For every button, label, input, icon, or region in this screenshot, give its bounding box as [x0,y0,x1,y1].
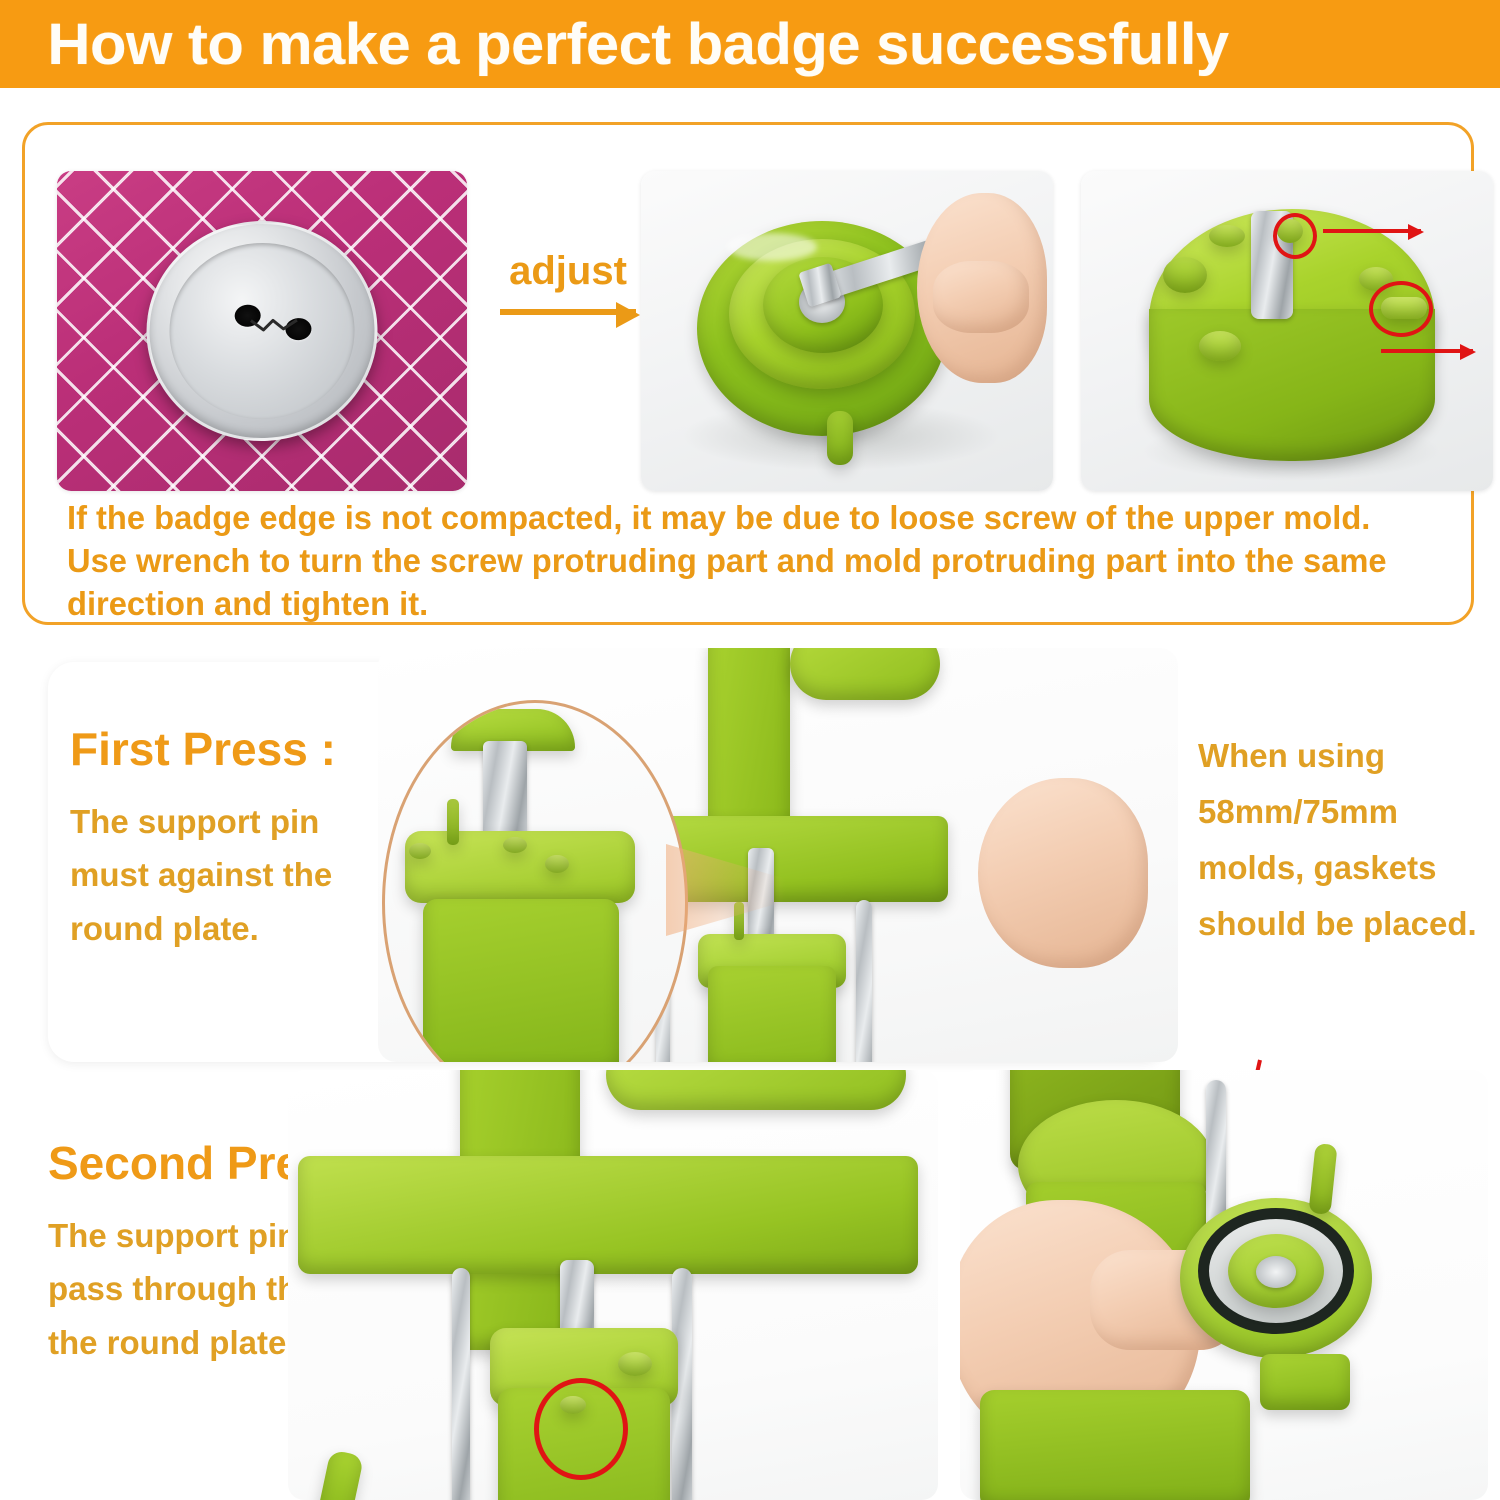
mold-alignment-annotated [1081,171,1493,491]
inset-support-pin [447,799,459,845]
center-screw [1256,1256,1296,1288]
wrench-adjusting-upper-mold [641,171,1053,491]
turntable-tab [1260,1354,1350,1410]
inset-plate-hole-a [409,843,431,859]
inset-plate-hole-c [545,855,569,873]
guide-rod-left [452,1268,470,1500]
infographic-page: How to make a perfect badge successfully… [0,0,1500,1500]
red-circle-mold-pin [1369,281,1433,337]
mold-handle-pin [827,411,853,465]
guide-rod-right [856,900,872,1062]
first-press-body: The support pin must against the round p… [70,795,400,955]
header-banner: How to make a perfect badge successfully [0,0,1500,88]
highlight [727,233,817,261]
red-circle-screw [1273,213,1317,259]
inset-lower-mold [423,899,619,1062]
top-panel-caption: If the badge edge is not compacted, it m… [67,497,1423,626]
thumb [933,261,1029,333]
top-instruction-panel: adjust [22,122,1474,625]
mold-hole-b [1163,257,1207,293]
safety-pin-wire-icon [249,314,300,335]
machine-base [980,1390,1250,1500]
top-photo-row: adjust [41,141,1461,486]
adjust-arrow-icon [500,309,636,315]
machine-handle-arm [790,648,940,700]
second-press-machine-annotated [288,1070,938,1500]
red-arrow-top [1323,229,1421,233]
adjust-label: adjust [493,251,643,291]
first-press-machine-with-magnifier [378,648,1178,1062]
red-circle-support-pin [534,1378,628,1480]
machine-handle-arm [606,1070,906,1110]
lower-mold-stack [708,966,836,1062]
red-arrow-bottom [1381,349,1473,353]
inset-plate-hole-b [503,837,527,853]
machine-crossbar [298,1156,918,1274]
gasket-note: When using 58mm/75mm molds, gaskets shou… [1198,728,1490,952]
first-press-text-block: First Press : The support pin must again… [70,724,400,955]
badge-back-on-cutting-mat [57,171,467,491]
page-title: How to make a perfect badge successfully [0,11,1229,78]
plate-hole [618,1352,652,1376]
first-press-heading: First Press : [70,724,400,775]
mold-hole-a [1209,225,1245,247]
machine-column [708,648,790,838]
hand [978,778,1148,968]
adjust-annotation: adjust [493,251,643,315]
gasket-placement-photo [960,1070,1488,1500]
first-press-card: First Press : The support pin must again… [48,662,1168,1062]
mold-hole-c [1199,331,1241,361]
